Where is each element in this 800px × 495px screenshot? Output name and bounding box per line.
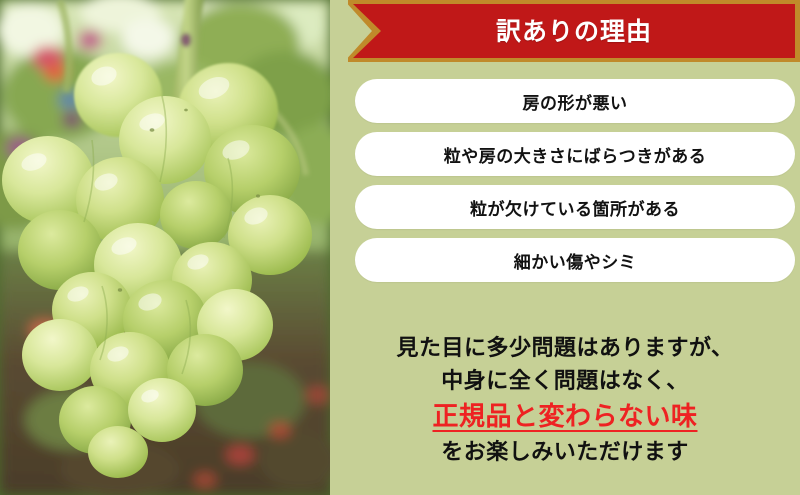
content-panel: 訳ありの理由 房の形が悪い 粒や房の大きさにばらつきがある 粒が欠けている箇所が… [330, 0, 800, 495]
message-highlight: 正規品と変わらない味 [330, 397, 800, 435]
reason-item-1[interactable]: 房の形が悪い [355, 79, 795, 123]
grape-photo [0, 0, 330, 495]
reason-item-2[interactable]: 粒や房の大きさにばらつきがある [355, 132, 795, 176]
grape-photo-illustration [0, 0, 330, 495]
section-banner: 訳ありの理由 [348, 0, 800, 62]
reason-label: 細かい傷やシミ [514, 248, 637, 273]
closing-message: 見た目に多少問題はありますが、 中身に全く問題はなく、 正規品と変わらない味 を… [330, 332, 800, 468]
reason-list: 房の形が悪い 粒や房の大きさにばらつきがある 粒が欠けている箇所がある 細かい傷… [355, 79, 795, 282]
reason-label: 房の形が悪い [523, 89, 628, 114]
reason-label: 粒や房の大きさにばらつきがある [444, 142, 707, 167]
reason-item-3[interactable]: 粒が欠けている箇所がある [355, 185, 795, 229]
message-line-4: をお楽しみいただけます [330, 436, 800, 469]
reason-label: 粒が欠けている箇所がある [470, 195, 680, 220]
message-line-1: 見た目に多少問題はありますが、 [330, 332, 800, 365]
banner-title: 訳ありの理由 [348, 0, 800, 62]
reason-item-4[interactable]: 細かい傷やシミ [355, 238, 795, 282]
promo-banner: 訳ありの理由 房の形が悪い 粒や房の大きさにばらつきがある 粒が欠けている箇所が… [0, 0, 800, 495]
message-line-2: 中身に全く問題はなく、 [330, 365, 800, 398]
